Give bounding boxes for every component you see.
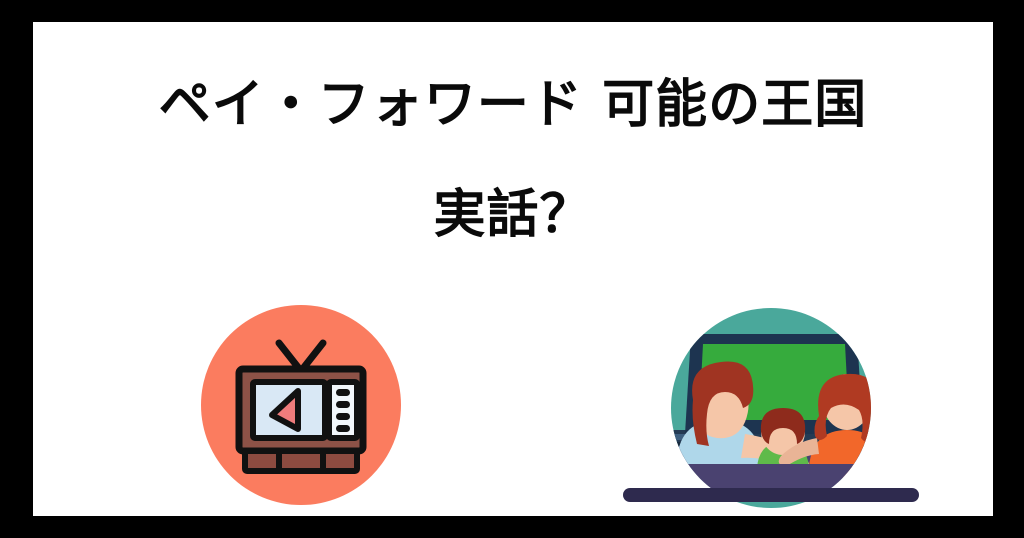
family-watching-tv-illustration bbox=[613, 282, 933, 508]
page-title-line-1: ペイ・フォワード 可能の王国 bbox=[33, 74, 993, 136]
poster-inner-card: ペイ・フォワード 可能の王国 実話？ bbox=[33, 22, 993, 516]
page-title-line-2: 実話？ bbox=[33, 184, 993, 246]
poster-canvas: ペイ・フォワード 可能の王国 実話？ bbox=[0, 0, 1024, 538]
retro-television-icon bbox=[168, 282, 436, 508]
tv-icon-artwork bbox=[201, 305, 401, 505]
family-illustration-artwork bbox=[613, 282, 933, 508]
tv-base bbox=[245, 451, 357, 471]
couch-base bbox=[623, 488, 919, 502]
